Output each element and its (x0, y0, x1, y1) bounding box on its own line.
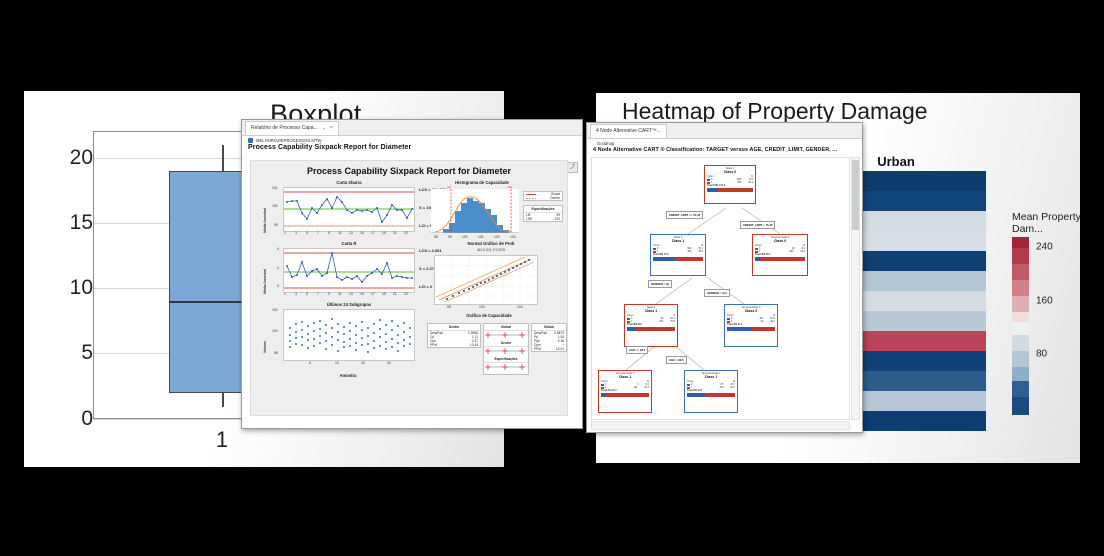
node-cell: 75.9 (670, 320, 675, 323)
subgroups-points (284, 310, 414, 360)
rchart-ytick: 2 (277, 266, 279, 270)
xbar-xtick: 5 (306, 231, 308, 235)
legend-tick: 80 (1036, 349, 1047, 360)
rchart-xtick: 11 (338, 292, 342, 296)
xbar-xtick: 13 (349, 231, 353, 235)
cart-scroll-thumb[interactable] (852, 160, 859, 230)
rchart-xtick: 23 (404, 292, 408, 296)
node-cell: 91.6 (800, 250, 805, 253)
minitab-cart-window[interactable]: 4 Node Alternative CART™... Goodnap 4 No… (586, 122, 863, 433)
heatmap-cell (862, 191, 986, 211)
xbar-plot (283, 187, 415, 232)
sixpack-worksheet-line: MELHORIADEPROCESSOS.MTW (242, 136, 582, 144)
node-bar (687, 393, 735, 397)
cart-edge-label: AGE <= 32.5 (626, 346, 648, 354)
heatmap-cell (862, 251, 986, 271)
sixpack-tab[interactable]: Relatório de Processo Capa... ⌄ × (245, 121, 339, 135)
overall-key: PPM (534, 347, 541, 351)
sixpack-tab-label: Relatório de Processo Capa... (251, 122, 318, 135)
node-total: Total 161 13.4 (601, 389, 617, 392)
node-cell: 152 (633, 386, 637, 389)
cart-heading: 4 Node Alternative CART ® Classification… (587, 147, 862, 155)
subgroups-xtick: 15 (361, 361, 365, 365)
band-spec (484, 363, 526, 371)
subgroups-xlabel: Amostra (291, 373, 405, 378)
cart-horizontal-scrollbar[interactable] (591, 421, 850, 430)
node-cell: 305 (737, 181, 741, 184)
cart-node-5[interactable]: Terminal Node 5 Class 0 Count% 040481.8 … (724, 304, 778, 347)
node-total: Total 398 33.1 (627, 323, 643, 326)
sixpack-tabstrip: Relatório de Processo Capa... ⌄ × (242, 120, 582, 136)
rchart-xtick: 17 (371, 292, 375, 296)
histogram-subtitle: Histograma de Capacidade (427, 180, 537, 185)
band-label-spec: Especificações (484, 356, 528, 363)
capability-subtitle: Gráfico de Capacidade (429, 313, 549, 318)
node-bar (601, 393, 649, 397)
capability-bands: Global Dentro Especificações (483, 323, 529, 375)
xbar-xtick: 21 (393, 231, 397, 235)
node-bar (727, 327, 775, 331)
normplot-subtitle: Normal Gráfico de Prob (436, 241, 546, 246)
subgroups-xtick: 10 (335, 361, 339, 365)
histogram-plot (431, 189, 519, 233)
cart-tabstrip: 4 Node Alternative CART™... (587, 123, 862, 139)
spec-row-val: 100 (555, 217, 560, 221)
histogram-bars (431, 189, 519, 233)
subgroups-plot (283, 309, 415, 361)
xbar-xtick: 15 (360, 231, 364, 235)
subgroups-ytick: 102 (272, 308, 278, 312)
spec-row-key: LSE (526, 217, 532, 221)
heatmap-legend: Mean Property Dam... 240 160 80 (1012, 211, 1082, 235)
histogram-xtick: 99 (448, 235, 452, 239)
histogram-legend: Global Dentro (523, 191, 563, 201)
node-cell: 43.9 (698, 250, 703, 253)
node-cell: 392 (687, 250, 691, 253)
heatmap-column-label: Urban (877, 154, 915, 169)
xbar-xtick: 1 (284, 231, 286, 235)
whisker-lower (222, 393, 224, 407)
cart-section-line: Goodnap (587, 139, 862, 147)
within-table-title: Dentro (428, 324, 480, 331)
node-cell: 302 (659, 320, 663, 323)
cart-section-label: Goodnap (597, 141, 614, 146)
cart-tree-canvas: Node 1 Class 0 Count% 089674.6 130525.4 … (591, 157, 850, 420)
rchart-xtick: 21 (393, 292, 397, 296)
within-key: PPM (430, 343, 437, 347)
screenshot-root: Boxplot 0 5 10 15 20 1 Heatmap of Prop (0, 0, 1104, 556)
xbar-xtick: 17 (371, 231, 375, 235)
heatmap-title: Heatmap of Property Damage (622, 98, 928, 125)
rchart-subtitle: Carta R (279, 241, 419, 246)
node-cell: 150 (719, 386, 723, 389)
node-total: Total 237 19.7 (687, 389, 703, 392)
xbar-series (284, 188, 414, 231)
xbar-ytick: 99 (274, 223, 278, 227)
node-total: Total 494 41.1 (727, 323, 743, 326)
legend-tick: 160 (1036, 296, 1053, 307)
rchart-ytick: 4 (277, 247, 279, 251)
band-label-within: Dentro (484, 340, 528, 347)
xbar-ytick: 101 (272, 186, 278, 190)
cart-tab-label: 4 Node Alternative CART™... (596, 125, 661, 138)
sixpack-graph-canvas: Process Capability Sixpack Report for Di… (250, 160, 568, 416)
cart-node-6[interactable]: Terminal Node 6 Class 1 Count% 095.6 115… (598, 370, 652, 413)
legend-tick: 240 (1036, 242, 1053, 253)
xbar-xtick: 7 (317, 231, 319, 235)
rchart-plot (283, 248, 415, 293)
normplot-points (435, 256, 537, 304)
heatmap-cell (862, 351, 986, 371)
histogram-lsl-mark: LIE (447, 185, 451, 189)
heatmap-cell (862, 171, 986, 191)
heatmap-colorbar (1012, 237, 1029, 397)
cart-node-2[interactable]: Node 2 Class 1 Count% 050056.1 139243.9 … (650, 234, 706, 276)
subgroups-xtick: 5 (309, 361, 311, 365)
within-val: 13.43 (470, 343, 478, 347)
heatmap-cell (862, 231, 986, 251)
node-bar (627, 327, 675, 331)
node-bar (653, 257, 703, 261)
rchart-annotation: LCS = 4.001 (419, 248, 442, 253)
histogram-xtick: 98 (434, 235, 438, 239)
ytick-label: 20 (53, 146, 93, 170)
heatmap-cell (862, 311, 986, 331)
rchart-xtick: 19 (382, 292, 386, 296)
minitab-sixpack-window[interactable]: Relatório de Processo Capa... ⌄ × MELHOR… (241, 119, 583, 429)
histogram-xtick: 100 (462, 235, 468, 239)
xbar-xtick: 9 (328, 231, 330, 235)
normplot-xtick: 104 (517, 305, 523, 309)
xbar-subtitle: Carta Xbarra (279, 180, 419, 185)
node-cell: 94.4 (644, 386, 649, 389)
spec-table: Especificações LIE99 LSE100 (523, 205, 563, 222)
xbar-xtick: 3 (295, 231, 297, 235)
rchart-xtick: 15 (360, 292, 364, 296)
node-cell: 25.4 (748, 181, 753, 184)
heatmap-cell (862, 391, 986, 411)
worksheet-icon (248, 138, 253, 143)
normplot-xtick: 100 (479, 305, 485, 309)
xbar-xtick: 19 (382, 231, 386, 235)
node-cell: 9 (637, 383, 638, 386)
heatmap-legend-title: Mean Property Dam... (1012, 211, 1082, 235)
heatmap-cell (862, 411, 986, 431)
sixpack-heading: Process Capability Sixpack Report for Di… (242, 144, 582, 153)
xbar-xtick: 11 (338, 231, 342, 235)
cart-edge-label: GENDER = (f) (648, 280, 672, 288)
rchart-series (284, 249, 414, 292)
ytick-label: 5 (53, 341, 93, 365)
x-category-label: 1 (216, 427, 228, 453)
subgroups-ylabel: Valores (263, 341, 267, 353)
close-icon[interactable]: × (330, 122, 333, 135)
heatmap-cell (862, 371, 986, 391)
chevron-down-icon[interactable]: ⌄ (322, 122, 326, 135)
cart-node-7[interactable]: Terminal Node 7 Class 1 Count% 08736.7 1… (684, 370, 738, 413)
heatmap-grid (862, 171, 986, 431)
xbar-ytick: 100 (272, 204, 278, 208)
overall-val: 12.01 (556, 347, 564, 351)
histogram-usl-mark: LSE (507, 185, 512, 189)
overall-table: Global DesvPad0.5873 Pp1.08 Ppk0.36 Cpm*… (531, 323, 567, 352)
band-global (484, 331, 526, 339)
normplot-note: AD:0.201; P:0.878 (456, 248, 526, 252)
ytick-label: 15 (53, 211, 93, 235)
xbar-ylabel: Média Amostral (263, 208, 267, 233)
cart-node-1[interactable]: Node 1 Class 0 Count% 089674.6 130525.4 … (704, 165, 756, 204)
ytick-label: 0 (53, 407, 93, 431)
spec-table-title: Especificações (524, 206, 562, 213)
subgroups-xtick: 20 (387, 361, 391, 365)
worksheet-name: MELHORIADEPROCESSOS.MTW (256, 138, 321, 143)
rchart-ylabel: Média Amostral (263, 269, 267, 294)
subgroups-ytick: 100 (272, 329, 278, 333)
histogram-xtick: 103 (510, 235, 516, 239)
subgroups-subtitle: Últimos 24 Subgrupos (279, 302, 419, 307)
cart-edge-label: GENDER = (m) (704, 289, 730, 297)
overall-table-title: Global (532, 324, 566, 331)
node-total: Total 309 25.7 (755, 253, 771, 256)
cart-edge-label: AGE > 32.5 (666, 356, 687, 364)
expand-icon[interactable]: ⤴ (567, 162, 578, 173)
histogram-xtick: 101 (478, 235, 484, 239)
legend-within: Dentro (550, 196, 560, 200)
node-cell: 90 (761, 320, 764, 323)
node-bar (755, 257, 805, 261)
node-cell: 63.3 (730, 386, 735, 389)
rchart-xtick: 13 (349, 292, 353, 296)
band-label-global: Global (484, 324, 528, 331)
heatmap-cell (862, 211, 986, 231)
cart-edge-label: CREDIT_LIMIT <= 15.45 (666, 211, 703, 219)
rchart-xtick: 5 (306, 292, 308, 296)
heatmap-cell (862, 271, 986, 291)
rchart-ytick: 0 (277, 284, 279, 288)
node-cell: 18.2 (770, 320, 775, 323)
xbar-xtick: 23 (404, 231, 408, 235)
heatmap-cell (862, 291, 986, 311)
normplot-plot (434, 255, 538, 305)
rchart-xtick: 9 (328, 292, 330, 296)
cart-node-3[interactable]: Terminal Node 3 Class 0 Count% 0268.4 12… (752, 234, 808, 276)
node-cell: 283 (789, 250, 793, 253)
heatmap-cell (862, 331, 986, 351)
ytick-label: 10 (53, 276, 93, 300)
rchart-xtick: 7 (317, 292, 319, 296)
within-table: Dentro DesvPad0.5966 Cp1.11 Cpk0.37 PPM1… (427, 323, 481, 348)
sixpack-chart-title: Process Capability Sixpack Report for Di… (251, 166, 567, 176)
subgroups-ytick: 98 (274, 351, 278, 355)
rchart-xtick: 1 (284, 292, 286, 296)
histogram-xtick: 102 (494, 235, 500, 239)
band-within (484, 347, 526, 355)
rchart-annotation: LCI = 0 (419, 284, 432, 289)
rchart-xtick: 3 (295, 292, 297, 296)
cart-tab[interactable]: 4 Node Alternative CART™... (590, 124, 667, 138)
node-bar (707, 188, 753, 192)
normplot-xtick: 98 (447, 305, 451, 309)
cart-edge-label: CREDIT_LIMIT > 15.45 (740, 221, 775, 229)
node-total: Total 1201 100.0 (707, 184, 725, 187)
cart-vertical-scrollbar[interactable] (851, 157, 860, 420)
node-total: Total 892 74.3 (653, 253, 669, 256)
cart-node-4[interactable]: Node 4 Class 1 Count% 09624.1 130275.9 T… (624, 304, 678, 347)
